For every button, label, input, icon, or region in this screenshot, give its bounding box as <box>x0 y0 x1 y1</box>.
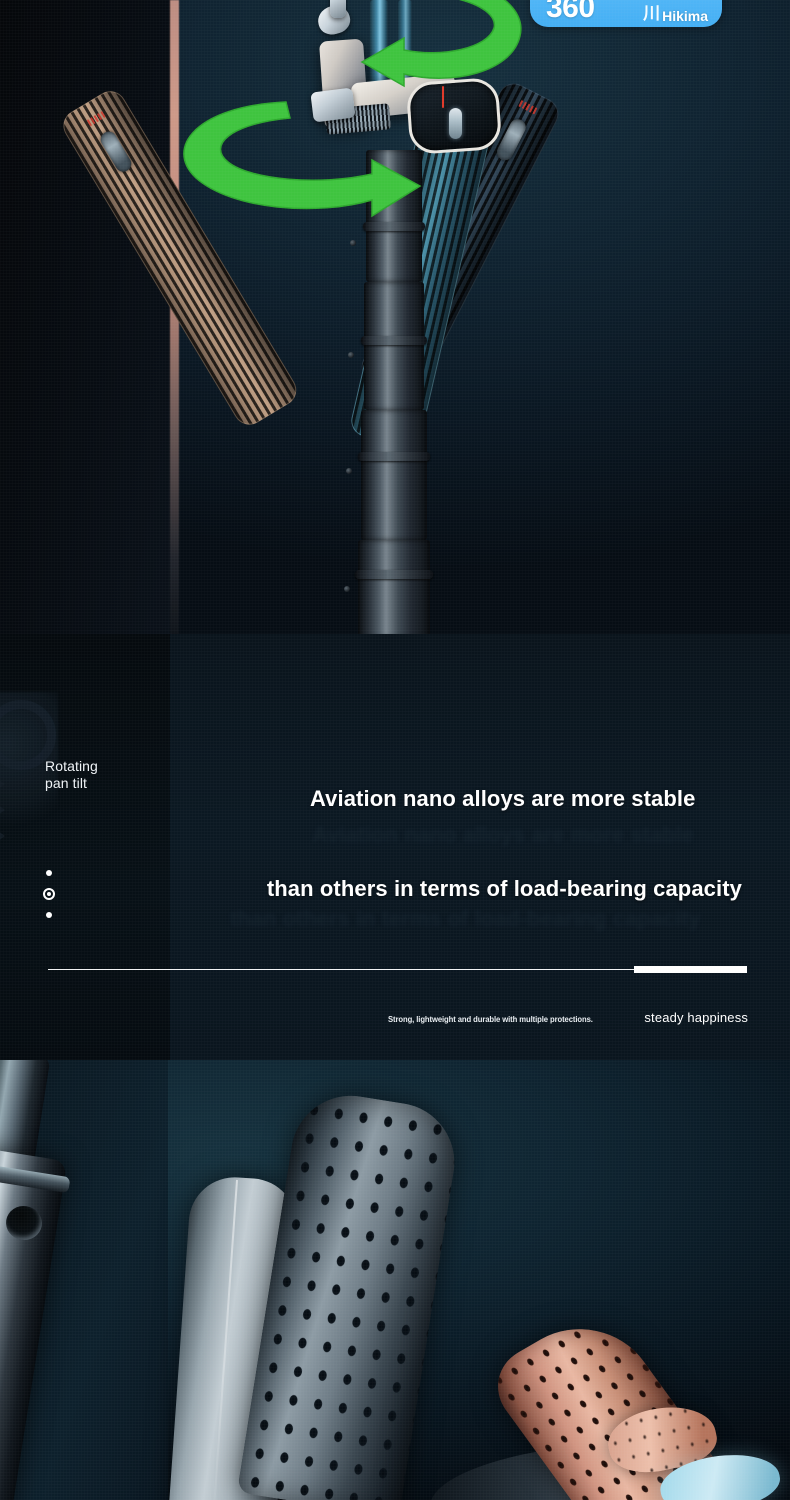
column-segment-1 <box>366 150 422 282</box>
badge-360-brand: 360 川 Hikima <box>530 0 722 27</box>
carousel-dot-2-wrap[interactable] <box>45 883 55 904</box>
ghost-headline-1: Aviation nano alloys are more stable <box>312 822 694 848</box>
head-index-mark <box>442 86 444 108</box>
head-top-pin-shaft <box>330 0 346 18</box>
caption-row: Strong, lightweight and durable with mul… <box>388 1010 748 1032</box>
head-screw-knob <box>310 88 355 123</box>
column-screw-2 <box>348 352 354 358</box>
leg-slot-tan <box>98 129 134 175</box>
column-segment-4 <box>358 540 430 634</box>
carousel-dot-1-wrap[interactable] <box>45 862 55 883</box>
caption-tagline: steady happiness <box>644 1010 748 1025</box>
column-collar-2 <box>361 336 427 345</box>
ghost-triangle-2 <box>0 802 5 818</box>
badge-brand-lockup: 川 Hikima <box>643 6 708 23</box>
column-screw-3 <box>346 468 352 474</box>
perforated-dark-blade <box>237 1087 463 1500</box>
ghost-triangle-3 <box>0 828 5 844</box>
leg-marking-tan <box>87 111 106 126</box>
ghost-triangle-1 <box>0 776 5 792</box>
column-screw-4 <box>344 586 350 592</box>
dark-blade-perforations <box>237 1087 463 1500</box>
blades-section <box>0 1060 790 1500</box>
ghost-headline-2: than others in terms of load-bearing cap… <box>230 906 701 932</box>
column-collar-4 <box>355 570 433 579</box>
feature-label-rotating-pan-tilt: Rotating pan tilt <box>45 758 98 792</box>
leg-marking-dark <box>518 100 537 114</box>
carousel-dot-3-wrap[interactable] <box>45 904 55 925</box>
column-screw-1 <box>350 240 356 246</box>
column-segment-2 <box>364 282 424 410</box>
brand-name-label: Hikima <box>662 9 708 23</box>
headline-line-1: Aviation nano alloys are more stable <box>310 786 742 812</box>
carousel-dot-2-active[interactable] <box>43 888 55 900</box>
product-detail-page: 360 川 Hikima Rotating pan tilt Aviation … <box>0 0 790 1500</box>
progress-indicator[interactable] <box>634 966 747 973</box>
column-segment-3 <box>361 410 427 540</box>
brand-logo-icon: 川 <box>643 6 660 23</box>
head-toggle-switch[interactable] <box>449 108 462 139</box>
carousel-dot-1[interactable] <box>46 870 52 876</box>
hero-tripod-section: 360 川 Hikima <box>0 0 790 634</box>
headline-line-2: than others in terms of load-bearing cap… <box>182 876 742 902</box>
badge-360-number: 360 <box>546 0 595 23</box>
column-collar-3 <box>358 452 430 461</box>
column-collar-1 <box>363 222 425 231</box>
carousel-dots <box>45 862 55 925</box>
hero-left-backdrop <box>0 0 172 634</box>
carousel-dot-3[interactable] <box>46 912 52 918</box>
caption-subtext: Strong, lightweight and durable with mul… <box>388 1015 593 1024</box>
